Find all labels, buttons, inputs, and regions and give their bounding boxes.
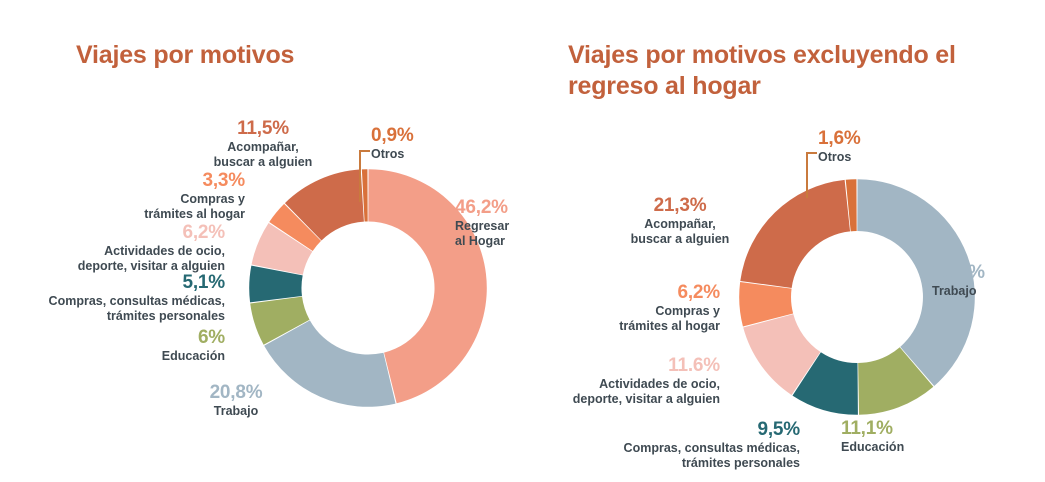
slice-percent: 3,3% [80, 170, 245, 192]
slice-label-trabajo: 20,8% Trabajo [180, 382, 292, 419]
slice-percent: 5,1% [42, 272, 225, 294]
slice-caption: Trabajo [180, 404, 292, 419]
slice-caption: Educación [110, 349, 225, 364]
slice-caption: Actividades de ocio, deporte, visitar a … [570, 377, 720, 406]
donut-left-slices [249, 169, 487, 407]
chart-title-right: Viajes por motivos excluyendo el regreso… [568, 40, 998, 101]
slice-percent: 21,3% [600, 195, 760, 217]
slice-percent: 20,8% [180, 382, 292, 404]
slice-percent: 11,1% [841, 418, 904, 440]
slice-percent: 1,6% [818, 128, 861, 150]
slice-caption: Acompañar, buscar a alguien [183, 140, 343, 169]
donut-left-svg [248, 168, 488, 408]
slice-label-actividades-de-ocio-right: 11.6% Actividades de ocio, deporte, visi… [570, 355, 720, 406]
slice-caption: Compras y trámites al hogar [80, 192, 245, 221]
slice-caption: Acompañar, buscar a alguien [600, 217, 760, 246]
leader-line-otros-right-vertical [806, 152, 808, 198]
slice-caption: Actividades de ocio, deporte, visitar a … [42, 244, 225, 273]
slice-percent: 11.6% [570, 355, 720, 377]
leader-line-otros-left-horizontal [359, 150, 370, 152]
slice-label-compras-consultas-medicas: 5,1% Compras, consultas médicas, trámite… [42, 272, 225, 323]
slice-caption: Educación [841, 440, 904, 455]
slice-label-otros-right: 1,6% Otros [818, 128, 861, 165]
slice-label-otros: 0,9% Otros [371, 125, 414, 162]
chart-panel-left: Viajes por motivos 46,2% Regresar al Hog… [0, 0, 545, 482]
slice-caption: Regresar al Hogar [455, 219, 509, 248]
donut-chart-left [248, 168, 488, 408]
slice-label-acompanar-buscar: 11,5% Acompañar, buscar a alguien [183, 118, 343, 169]
slice-caption: Otros [818, 150, 861, 165]
slice-percent: 11,5% [183, 118, 343, 140]
slice-label-compras-tramites-hogar: 3,3% Compras y trámites al hogar [80, 170, 245, 221]
leader-line-otros-left-vertical [359, 150, 361, 202]
slice-label-compras-tramites-hogar-right: 6,2% Compras y trámites al hogar [580, 282, 720, 333]
slice-percent: 38,7% [932, 262, 985, 284]
slice-caption: Compras, consultas médicas, trámites per… [42, 294, 225, 323]
slice-percent: 9,5% [610, 419, 800, 441]
slice-percent: 46,2% [455, 197, 509, 219]
slice-label-regresar-al-hogar: 46,2% Regresar al Hogar [455, 197, 509, 248]
slice-label-actividades-de-ocio: 6,2% Actividades de ocio, deporte, visit… [42, 222, 225, 273]
slice-label-compras-consultas-medicas-right: 9,5% Compras, consultas médicas, trámite… [610, 419, 800, 470]
slice-label-trabajo-right: 38,7% Trabajo [932, 262, 985, 299]
slice-label-educacion-right: 11,1% Educación [841, 418, 904, 455]
chart-title-left: Viajes por motivos [76, 40, 294, 71]
slice-percent: 6,2% [580, 282, 720, 304]
slice-caption: Compras, consultas médicas, trámites per… [610, 441, 800, 470]
slice-percent: 6,2% [42, 222, 225, 244]
slice-percent: 6% [110, 327, 225, 349]
slice-caption: Otros [371, 147, 414, 162]
slice-label-educacion: 6% Educación [110, 327, 225, 364]
slice-caption: Compras y trámites al hogar [580, 304, 720, 333]
slice-caption: Trabajo [932, 284, 985, 299]
leader-line-otros-right-horizontal [806, 152, 817, 154]
slice-label-acompanar-buscar-right: 21,3% Acompañar, buscar a alguien [600, 195, 760, 246]
slice-percent: 0,9% [371, 125, 414, 147]
